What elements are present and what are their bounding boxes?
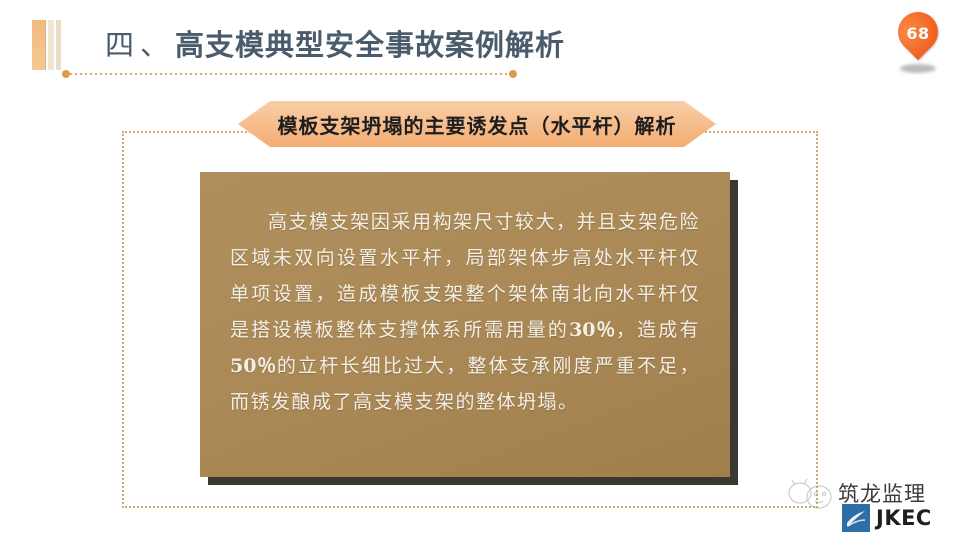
content-box: 高支模支架因采用构架尺寸较大，并且支架危险区域未双向设置水平杆，局部架体步高处水… [200, 172, 730, 477]
header-accent-bars [32, 20, 62, 70]
highlight-value: 50％ [230, 355, 277, 377]
page-number-text: 68 [898, 14, 938, 52]
pin-shadow [900, 64, 936, 73]
dot-cap-left [62, 70, 70, 78]
page-number-badge: 68 [893, 12, 945, 78]
jkec-logo-glyph [842, 504, 870, 532]
watermark-logo: 筑龙监理 JKEC [786, 476, 956, 534]
section-banner: 模板支架坍塌的主要诱发点（水平杆）解析 [238, 101, 716, 147]
section-banner-text: 模板支架坍塌的主要诱发点（水平杆）解析 [278, 110, 677, 139]
accent-bar-orange [32, 20, 46, 70]
slide-root: 四、高支模典型安全事故案例解析 68 模板支架坍塌的主要诱发点（水平杆）解析 高… [0, 0, 960, 540]
jkec-logo-mark [842, 504, 870, 532]
accent-bar-beige [48, 20, 54, 70]
section-number: 四、 [105, 28, 175, 62]
dotted-line [70, 73, 509, 75]
mascot-icon [786, 478, 838, 514]
content-body-text: 高支模支架因采用构架尺寸较大，并且支架危险区域未双向设置水平杆，局部架体步高处水… [230, 204, 700, 420]
highlight-value: 30％ [569, 319, 616, 341]
page-title: 四、高支模典型安全事故案例解析 [105, 22, 565, 68]
dot-cap-right [509, 70, 517, 78]
brand-name-en: JKEC [876, 506, 932, 530]
accent-bar-tan [56, 20, 61, 70]
section-title-text: 高支模典型安全事故案例解析 [175, 28, 565, 62]
header-dotted-rule [62, 70, 517, 78]
